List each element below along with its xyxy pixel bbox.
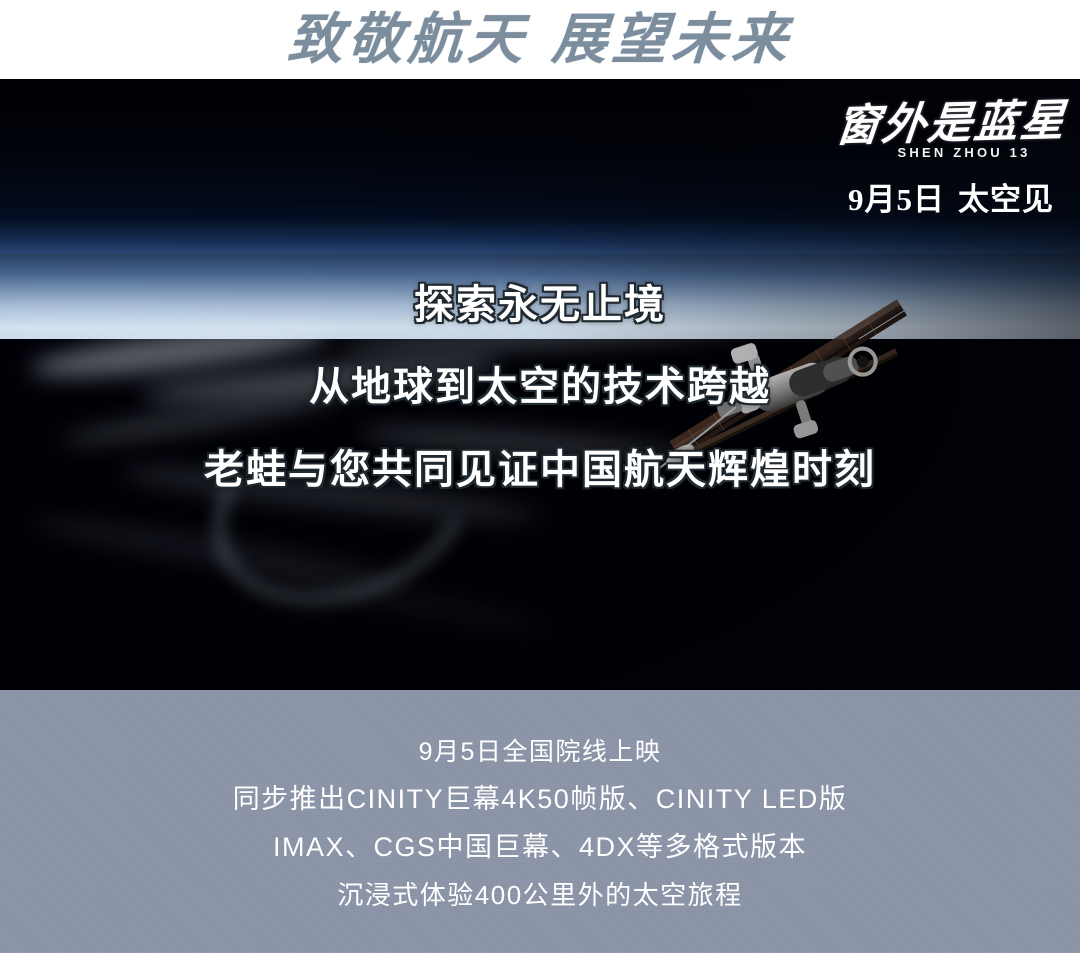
film-release-date: 9月5日 — [848, 182, 945, 217]
release-info-line-4: 沉浸式体验400公里外的太空旅程 — [0, 882, 1080, 908]
film-title: 窗外是蓝星 — [833, 98, 1068, 150]
page-title: 致敬航天展望未来 — [286, 12, 794, 67]
header-band: 致敬航天展望未来 — [0, 0, 1080, 79]
page-title-part-1: 致敬航天 — [286, 9, 530, 70]
film-logo: 窗外是蓝星 SHEN ZHOU 13 9月5日太空见 — [836, 101, 1066, 219]
movie-promo-poster: 致敬航天展望未来 — [0, 0, 1080, 953]
release-info-line-1: 9月5日全国院线上映 — [0, 740, 1080, 765]
film-tagline: 太空见 — [958, 182, 1054, 217]
release-info-line-3: IMAX、CGS中国巨幕、4DX等多格式版本 — [0, 834, 1080, 861]
release-info-panel: 9月5日全国院线上映 同步推出CINITY巨幕4K50帧版、CINITY LED… — [0, 690, 1080, 953]
orbital-photo: 窗外是蓝星 SHEN ZHOU 13 9月5日太空见 探索永无止境 从地球到太空… — [0, 79, 1080, 690]
film-release-line: 9月5日太空见 — [836, 174, 1066, 219]
release-info-lines: 9月5日全国院线上映 同步推出CINITY巨幕4K50帧版、CINITY LED… — [0, 740, 1080, 908]
release-info-line-2: 同步推出CINITY巨幕4K50帧版、CINITY LED版 — [0, 786, 1080, 813]
page-title-part-2: 展望未来 — [550, 9, 794, 70]
